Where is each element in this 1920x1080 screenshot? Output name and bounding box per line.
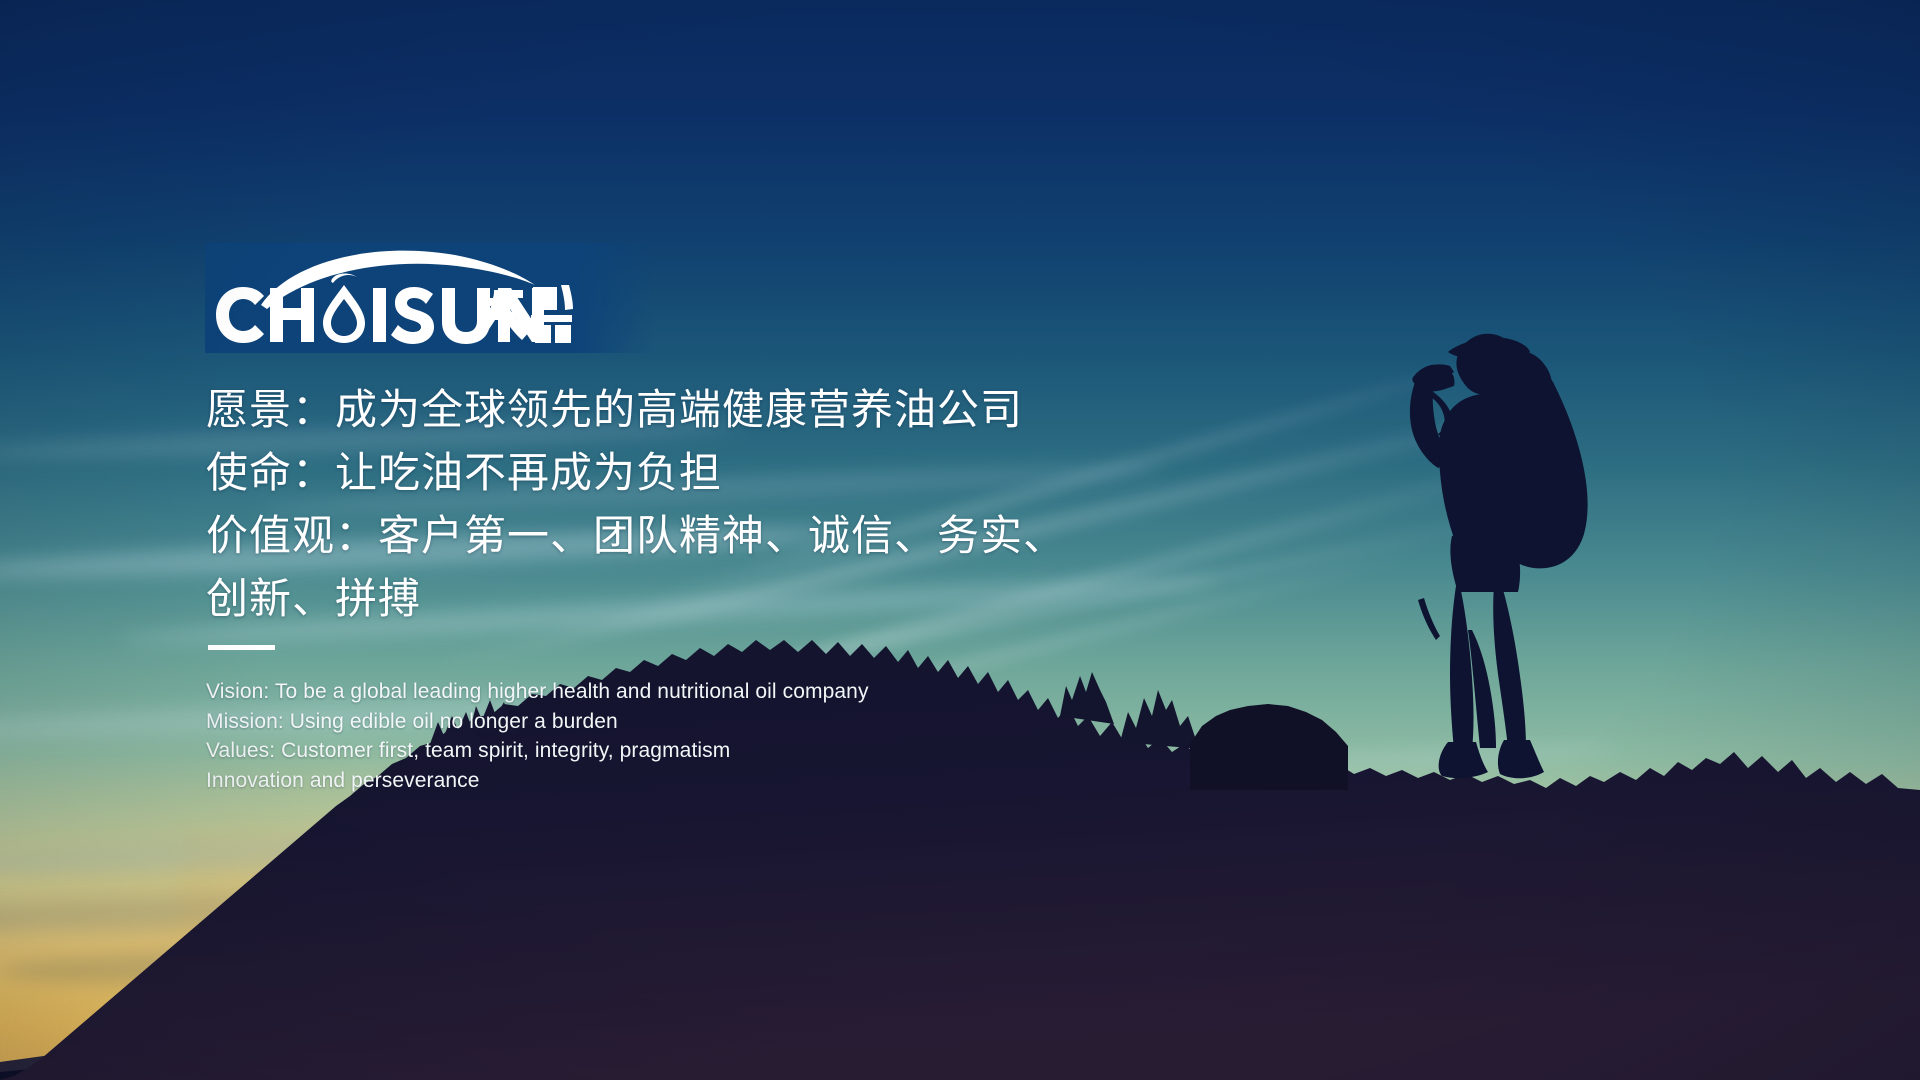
mission-statement-chinese: 愿景：成为全球领先的高端健康营养油公司 使命：让吃油不再成为负担 价值观：客户第… — [206, 378, 1156, 630]
values-line-cn: 价值观：客户第一、团队精神、诚信、务实、 — [206, 504, 1156, 567]
vision-line-cn: 愿景：成为全球领先的高端健康营养油公司 — [206, 378, 1156, 441]
values-line-en: Values: Customer first, team spirit, int… — [206, 736, 1156, 766]
mission-line-en: Mission: Using edible oil no longer a bu… — [206, 707, 1156, 737]
brand-logo — [205, 243, 575, 353]
water-droplet-icon — [323, 285, 365, 343]
values-line-cn-continued: 创新、拼搏 — [206, 567, 1156, 630]
vision-line-en: Vision: To be a global leading higher he… — [206, 677, 1156, 707]
slide-canvas: 愿景：成为全球领先的高端健康营养油公司 使命：让吃油不再成为负担 价值观：客户第… — [0, 0, 1920, 1080]
hiker-silhouette — [1380, 330, 1630, 800]
values-line-en-continued: Innovation and perseverance — [206, 766, 1156, 796]
mission-statement-english: Vision: To be a global leading higher he… — [206, 677, 1156, 795]
section-divider — [208, 645, 275, 650]
brand-logo-graphic — [205, 243, 575, 353]
mission-line-cn: 使命：让吃油不再成为负担 — [206, 441, 1156, 504]
